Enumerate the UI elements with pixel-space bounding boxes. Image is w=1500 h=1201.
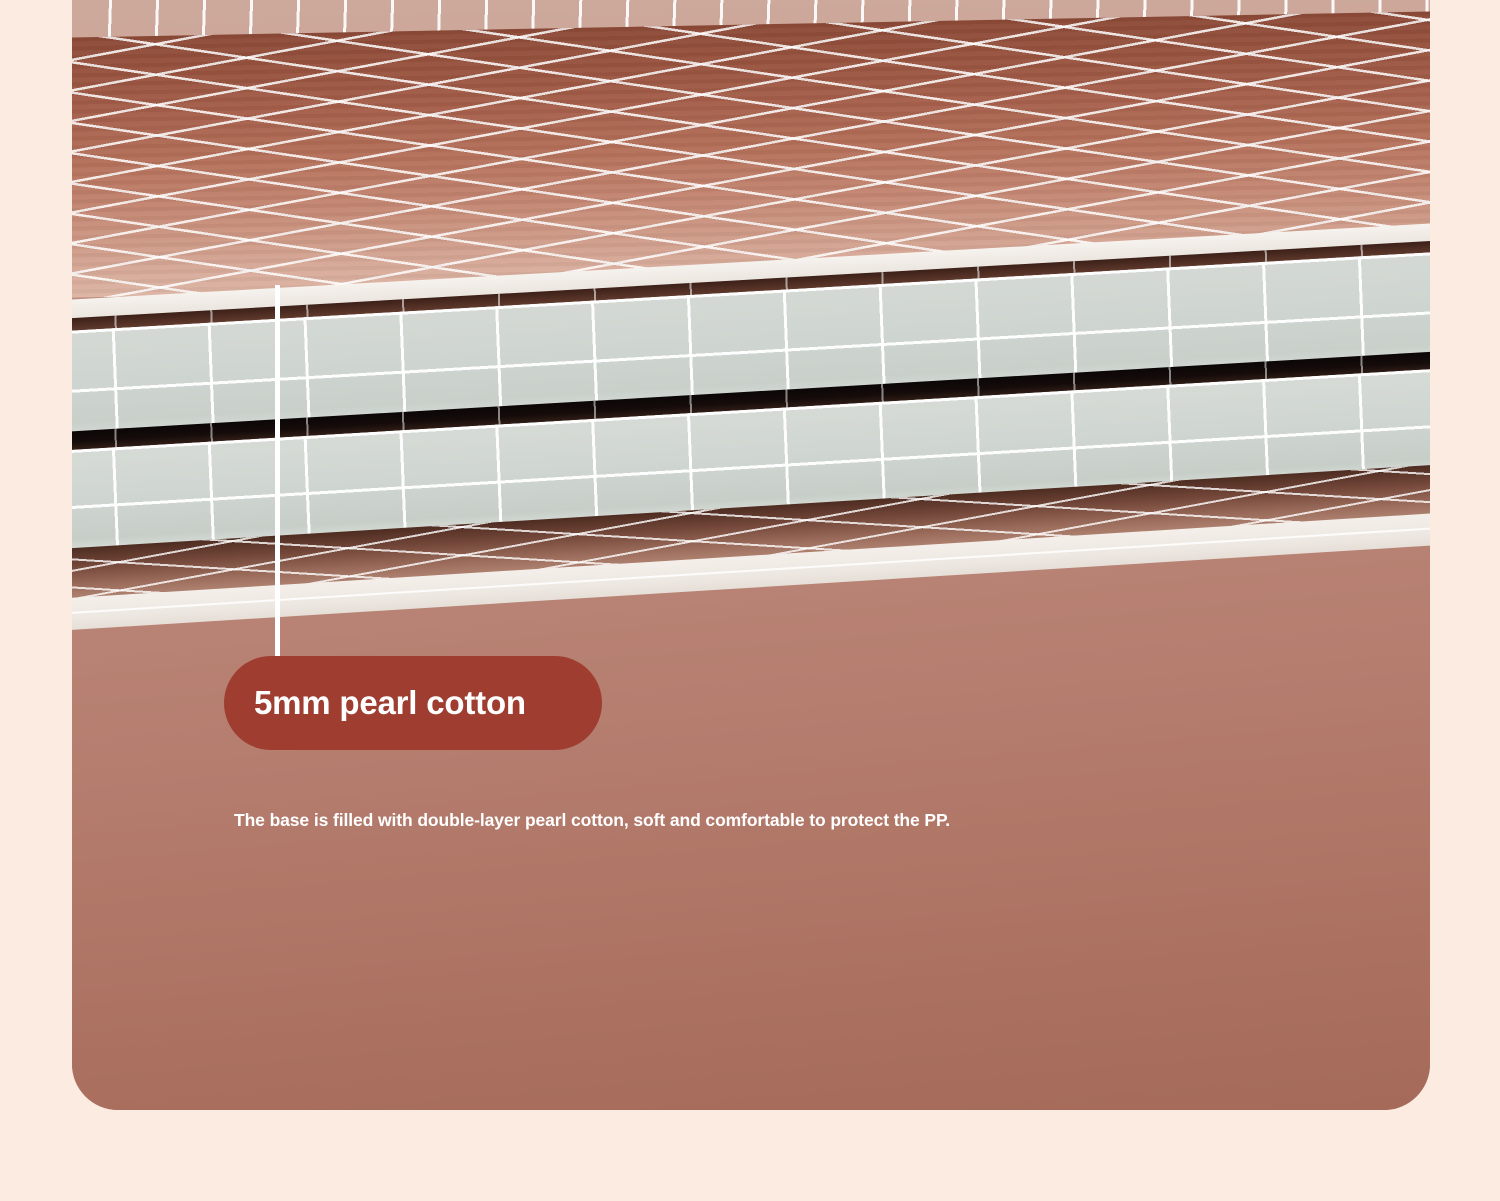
product-detail-page: 5mm pearl cotton The base is filled with… <box>0 0 1500 1201</box>
callout-badge: 5mm pearl cotton <box>224 656 602 750</box>
product-image-panel: 5mm pearl cotton The base is filled with… <box>72 0 1430 1110</box>
callout-badge-label: 5mm pearl cotton <box>224 684 526 722</box>
callout-leader-line <box>275 285 280 660</box>
feature-caption: The base is filled with double-layer pea… <box>234 810 950 831</box>
